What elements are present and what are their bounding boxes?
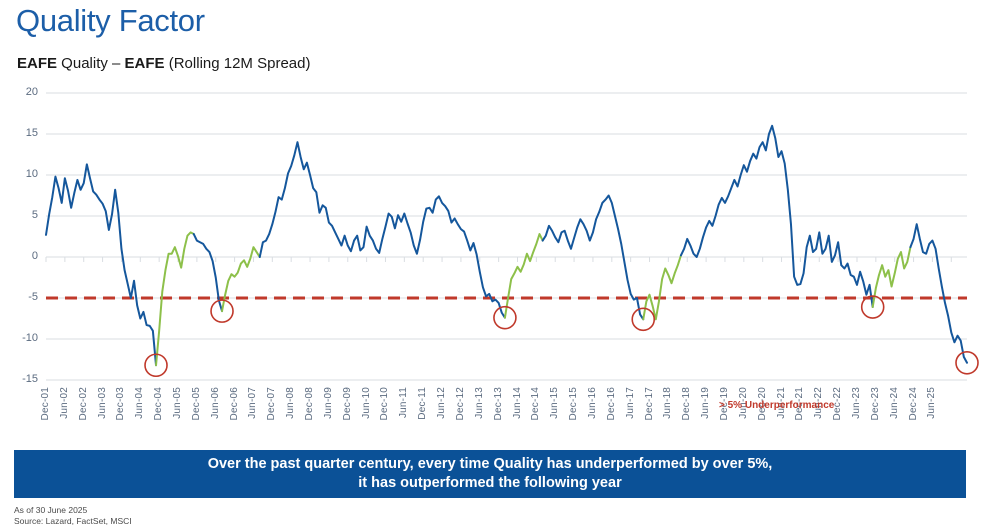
source-footnote: As of 30 June 2025 Source: Lazard, FactS…	[14, 505, 132, 526]
series-segment-normal	[46, 164, 156, 365]
x-axis-tick-label: Jun-12	[436, 387, 447, 419]
series-segment-recovery	[505, 234, 543, 318]
x-axis-tick-label: Jun-11	[398, 387, 409, 418]
x-axis-tick-label: Jun-13	[474, 387, 485, 419]
slide-root: Quality Factor EAFE Quality – EAFE (Roll…	[0, 0, 981, 527]
subtitle-part-4: (Rolling 12M Spread)	[165, 55, 311, 72]
x-axis-tick-label: Jun-09	[323, 387, 334, 419]
y-axis-tick-label: 15	[4, 127, 38, 139]
key-message-banner: Over the past quarter century, every tim…	[14, 450, 966, 498]
x-axis-tick-label: Dec-11	[417, 387, 428, 420]
x-axis-tick-label: Dec-13	[493, 387, 504, 420]
x-axis-tick-label: Dec-02	[78, 387, 89, 420]
x-axis-tick-label: Jun-10	[361, 387, 372, 419]
x-axis-tick-label: Dec-15	[568, 387, 579, 420]
x-axis-tick-label: Jun-17	[625, 387, 636, 419]
x-axis-tick-label: Jun-25	[926, 387, 937, 419]
x-axis-tick-label: Dec-18	[681, 387, 692, 420]
chart-container: -15-10-505101520 Dec-01Jun-02Dec-02Jun-0…	[0, 84, 981, 444]
x-axis-tick-label: Jun-18	[662, 387, 673, 419]
x-axis-tick-label: Jun-23	[851, 387, 862, 419]
y-axis-tick-label: 20	[4, 86, 38, 98]
series-segment-normal	[260, 142, 505, 317]
y-axis-tick-label: -10	[4, 332, 38, 344]
x-axis-tick-label: Dec-07	[266, 387, 277, 420]
x-axis-tick-label: Dec-16	[606, 387, 617, 420]
footnote-source: Source: Lazard, FactSet, MSCI	[14, 516, 132, 527]
footnote-asof: As of 30 June 2025	[14, 505, 132, 516]
x-axis-tick-label: Dec-17	[644, 387, 655, 420]
x-axis-tick-label: Dec-12	[455, 387, 466, 420]
series-segment-normal	[910, 224, 967, 363]
x-axis-tick-label: Jun-04	[134, 387, 145, 419]
threshold-annotation: > 5% Underperformance	[719, 400, 834, 411]
subtitle-part-3: EAFE	[125, 55, 165, 72]
x-axis-tick-label: Jun-07	[247, 387, 258, 419]
x-axis-tick-label: Jun-06	[210, 387, 221, 419]
subtitle-part-1: EAFE	[17, 55, 57, 72]
x-axis-tick-label: Dec-01	[40, 387, 51, 420]
subtitle-part-2: Quality –	[57, 55, 125, 72]
x-axis-tick-label: Jun-05	[172, 387, 183, 419]
x-axis-tick-label: Dec-05	[191, 387, 202, 420]
x-axis-tick-label: Dec-14	[530, 387, 541, 420]
banner-line-2: it has outperformed the following year	[358, 474, 621, 493]
series-segment-normal	[194, 234, 222, 311]
x-axis-tick-label: Dec-10	[379, 387, 390, 420]
x-axis-tick-label: Jun-02	[59, 387, 70, 419]
y-axis-tick-label: -15	[4, 373, 38, 385]
y-axis-tick-label: 10	[4, 168, 38, 180]
page-title: Quality Factor	[16, 2, 205, 40]
x-axis-tick-label: Jun-08	[285, 387, 296, 419]
y-axis-tick-label: 0	[4, 250, 38, 262]
x-axis-tick-label: Jun-19	[700, 387, 711, 419]
x-axis-tick-label: Dec-03	[115, 387, 126, 420]
x-axis-tick-label: Dec-24	[908, 387, 919, 420]
x-axis-tick-label: Jun-16	[587, 387, 598, 419]
x-axis-tick-label: Jun-03	[97, 387, 108, 419]
chart-subtitle: EAFE Quality – EAFE (Rolling 12M Spread)	[17, 54, 310, 74]
x-axis-tick-label: Dec-09	[342, 387, 353, 420]
y-axis-tick-label: 5	[4, 209, 38, 221]
x-axis-tick-label: Dec-23	[870, 387, 881, 420]
x-axis-tick-label: Jun-14	[512, 387, 523, 419]
x-axis-tick-label: Jun-15	[549, 387, 560, 419]
banner-line-1: Over the past quarter century, every tim…	[208, 455, 773, 474]
y-axis-tick-label: -5	[4, 291, 38, 303]
x-axis-tick-label: Dec-08	[304, 387, 315, 420]
x-axis-tick-label: Dec-06	[229, 387, 240, 420]
x-axis-tick-label: Dec-04	[153, 387, 164, 420]
x-axis-tick-label: Jun-24	[889, 387, 900, 419]
